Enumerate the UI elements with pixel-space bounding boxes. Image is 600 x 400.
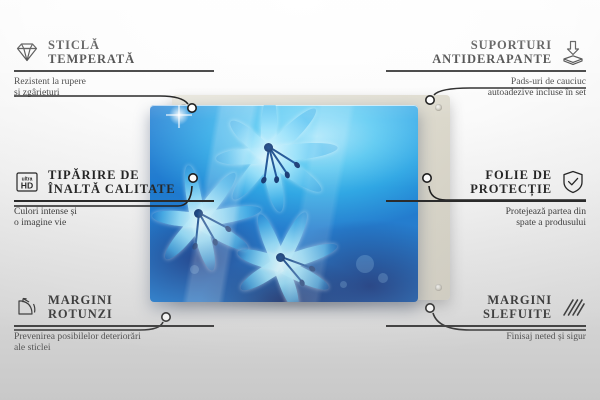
bokeh-dot [190, 265, 199, 274]
callout-header: SUPORTURI ANTIDERAPANTE [386, 38, 586, 66]
rounded-corner-icon [14, 294, 40, 320]
callout-header: MARGINI ROTUNZI [14, 293, 214, 321]
callout-divider [14, 325, 214, 327]
shield-check-icon [560, 169, 586, 195]
callout-tiparire-inalta-calitate: ultra HD TIPĂRIRE DE ÎNALTĂ CALITATE Cul… [14, 168, 214, 229]
bokeh-dot [378, 273, 388, 283]
callout-description: Culori intense și o imagine vie [14, 206, 214, 229]
callout-description: Rezistent la rupere și zgârieturi [14, 76, 214, 99]
ultra-hd-icon: ultra HD [14, 169, 40, 195]
callout-header: FOLIE DE PROTECȚIE [386, 168, 586, 196]
callout-title: SUPORTURI ANTIDERAPANTE [432, 38, 552, 66]
callout-divider [386, 70, 586, 72]
callout-margini-slefuite: MARGINI SLEFUITE Finisaj neted și sigur [386, 293, 586, 342]
callout-divider [14, 200, 214, 202]
callout-folie-de-protectie: FOLIE DE PROTECȚIE Protejează partea din… [386, 168, 586, 229]
callout-title: STICLĂ TEMPERATĂ [48, 38, 135, 66]
diamond-icon [14, 39, 40, 65]
polished-edge-icon [560, 294, 586, 320]
callout-divider [386, 200, 586, 202]
rubber-pad-icon [435, 284, 442, 291]
callout-divider [14, 70, 214, 72]
callout-description: Finisaj neted și sigur [386, 331, 586, 343]
product-feature-infographic: STICLĂ TEMPERATĂ Rezistent la rupere și … [0, 0, 600, 400]
callout-header: MARGINI SLEFUITE [386, 293, 586, 321]
callout-sticla-temperata: STICLĂ TEMPERATĂ Rezistent la rupere și … [14, 38, 214, 99]
callout-description: Pads-uri de cauciuc autoadezive incluse … [386, 76, 586, 99]
callout-suporturi-antiderapante: SUPORTURI ANTIDERAPANTE Pads-uri de cauc… [386, 38, 586, 99]
svg-text:HD: HD [21, 181, 33, 191]
callout-divider [386, 325, 586, 327]
callout-margini-rotunzi: MARGINI ROTUNZI Prevenirea posibilelor d… [14, 293, 214, 354]
callout-header: STICLĂ TEMPERATĂ [14, 38, 214, 66]
callout-description: Prevenirea posibilelor deteriorări ale s… [14, 331, 214, 354]
callout-description: Protejează partea din spate a produsului [386, 206, 586, 229]
rubber-pad-icon [435, 104, 442, 111]
rubber-pad-arrow-icon [560, 39, 586, 65]
bokeh-dot [340, 281, 347, 288]
callout-title: TIPĂRIRE DE ÎNALTĂ CALITATE [48, 168, 176, 196]
callout-title: MARGINI ROTUNZI [48, 293, 113, 321]
bokeh-dot [356, 255, 374, 273]
callout-title: FOLIE DE PROTECȚIE [470, 168, 552, 196]
callout-header: ultra HD TIPĂRIRE DE ÎNALTĂ CALITATE [14, 168, 214, 196]
callout-title: MARGINI SLEFUITE [483, 293, 552, 321]
